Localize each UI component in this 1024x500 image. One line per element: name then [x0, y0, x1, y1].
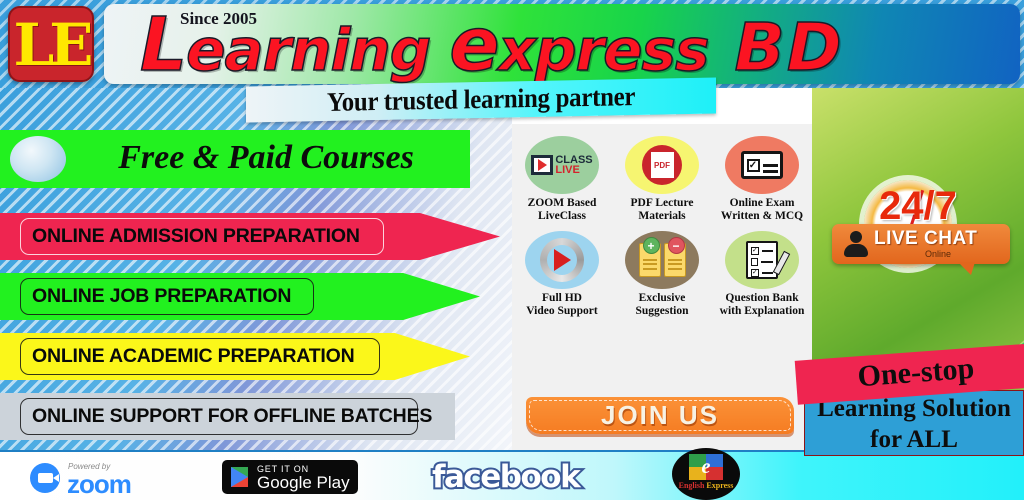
- google-play-icon: [231, 467, 248, 487]
- header: LE Since 2005 Learning expressBD: [0, 0, 1024, 88]
- feature-caption-line1: Full HD: [512, 292, 612, 305]
- pdf-icon: PDF: [625, 136, 699, 194]
- class-live-icon: CLASS LIVE: [525, 136, 599, 194]
- suggestion-card-plus: +: [639, 243, 661, 277]
- free-paid-courses-bar: Free & Paid Courses: [0, 130, 470, 188]
- feature-caption-line2: Suggestion: [612, 305, 712, 318]
- zoom-logo[interactable]: Powered by zoom: [30, 461, 210, 495]
- banner-online-support-offline-batches[interactable]: ONLINE SUPPORT FOR OFFLINE BATCHES: [0, 393, 455, 440]
- ee-name-part1: English: [679, 481, 705, 490]
- live-chat-status: Online: [874, 249, 1002, 259]
- ee-letter: e: [689, 454, 723, 480]
- google-play-badge[interactable]: GET IT ON Google Play: [222, 460, 358, 494]
- zoom-camera-icon: [30, 463, 60, 493]
- video-play-icon: [525, 231, 599, 289]
- banner-label: ONLINE JOB PREPARATION: [20, 278, 303, 315]
- feature-caption-line1: Online Exam: [712, 197, 812, 210]
- suggestion-card-minus: −: [664, 243, 686, 277]
- free-paid-courses-label: Free & Paid Courses: [72, 130, 460, 188]
- feature-caption-line2: LiveClass: [512, 210, 612, 223]
- english-express-logo[interactable]: e English Express: [672, 448, 740, 500]
- promo-banner: LE Since 2005 Learning expressBD Your tr…: [0, 0, 1024, 500]
- banner-online-job-preparation[interactable]: ONLINE JOB PREPARATION: [0, 273, 480, 320]
- feature-caption-line2: Video Support: [512, 305, 612, 318]
- feature-caption-line1: ZOOM Based: [512, 197, 612, 210]
- feature-caption-line1: Exclusive: [612, 292, 712, 305]
- feature-caption-line2: with Explanation: [712, 305, 812, 318]
- hours-247-label: 24/7: [812, 184, 1024, 229]
- join-us-label: JOIN US: [526, 397, 794, 434]
- left-panel: Free & Paid Courses ONLINE ADMISSION PRE…: [0, 88, 512, 450]
- feature-question-bank[interactable]: ✓ ✓ Question Bank with Explanation: [712, 227, 812, 318]
- brand-earning: earning: [186, 16, 430, 84]
- join-us-button[interactable]: JOIN US: [526, 397, 794, 434]
- feature-full-hd-video[interactable]: Full HD Video Support: [512, 227, 612, 318]
- features-panel: CLASS LIVE ZOOM Based LiveClass PDF PDF …: [512, 124, 812, 450]
- checkbox-icon: ✓: [747, 159, 760, 172]
- minus-badge: −: [668, 237, 685, 254]
- google-play-big-label: Google Play: [257, 473, 350, 493]
- feature-caption-line2: Materials: [612, 210, 712, 223]
- laptop-icon: ✓: [741, 151, 783, 179]
- facebook-logo[interactable]: facebook: [432, 461, 572, 494]
- online-exam-icon: ✓: [725, 136, 799, 194]
- tagline-strip: Your trusted learning partner: [246, 77, 716, 122]
- checklist-check-2: [751, 258, 758, 266]
- features-grid: CLASS LIVE ZOOM Based LiveClass PDF PDF …: [512, 132, 812, 318]
- feature-pdf-lecture-materials[interactable]: PDF PDF Lecture Materials: [612, 132, 712, 223]
- ee-name-part2: Express: [706, 481, 733, 490]
- play-screen-icon: [531, 155, 553, 175]
- live-chat-label: LIVE CHAT: [874, 228, 1002, 250]
- checklist-icon: ✓ ✓: [746, 241, 778, 279]
- feature-caption-line2: Written & MCQ: [712, 210, 812, 223]
- banner-label: ONLINE ACADEMIC PREPARATION: [20, 338, 367, 375]
- plus-badge: +: [643, 237, 660, 254]
- brand-letter-l: L: [140, 4, 186, 84]
- tagline-text: Your trusted learning partner: [265, 78, 697, 122]
- english-express-name: English Express: [672, 481, 740, 490]
- brand-title-plate: Since 2005 Learning expressBD: [104, 4, 1020, 84]
- solution-line-2: for ALL: [805, 424, 1023, 455]
- feature-online-exam[interactable]: ✓ Online Exam Written & MCQ: [712, 132, 812, 223]
- brand-bd: BD: [735, 9, 844, 84]
- text-lines-icon: [763, 164, 778, 167]
- brand-letter-e: e: [449, 4, 498, 84]
- footer: Powered by zoom GET IT ON Google Play fa…: [0, 450, 1024, 500]
- logo-monogram: LE: [10, 8, 92, 80]
- brand-xpress: xpress: [499, 16, 709, 84]
- question-bank-icon: ✓ ✓: [725, 231, 799, 289]
- feature-zoom-live-class[interactable]: CLASS LIVE ZOOM Based LiveClass: [512, 132, 612, 223]
- person-icon: [844, 231, 868, 257]
- feature-exclusive-suggestion[interactable]: + − Exclusive Suggestion: [612, 227, 712, 318]
- checklist-check-3: ✓: [751, 269, 759, 277]
- decorative-circle: [10, 136, 66, 182]
- live-chat-button[interactable]: LIVE CHAT Online: [832, 224, 1010, 264]
- zoom-wordmark: zoom: [67, 469, 131, 500]
- checklist-check-1: ✓: [751, 247, 759, 255]
- class-badge-bottom: LIVE: [555, 165, 592, 175]
- banner-label: ONLINE ADMISSION PREPARATION: [20, 218, 372, 255]
- banner-label: ONLINE SUPPORT FOR OFFLINE BATCHES: [20, 398, 444, 435]
- brand-name: Learning expressBD: [140, 8, 1020, 84]
- pdf-badge-text: PDF: [649, 150, 676, 180]
- feature-caption-line1: PDF Lecture: [612, 197, 712, 210]
- banner-online-admission-preparation[interactable]: ONLINE ADMISSION PREPARATION: [0, 213, 500, 260]
- cube-icon: e: [689, 454, 723, 480]
- banner-online-academic-preparation[interactable]: ONLINE ACADEMIC PREPARATION: [0, 333, 470, 380]
- company-logo: LE: [8, 6, 94, 82]
- feature-caption-line1: Question Bank: [712, 292, 812, 305]
- suggestion-icon: + −: [625, 231, 699, 289]
